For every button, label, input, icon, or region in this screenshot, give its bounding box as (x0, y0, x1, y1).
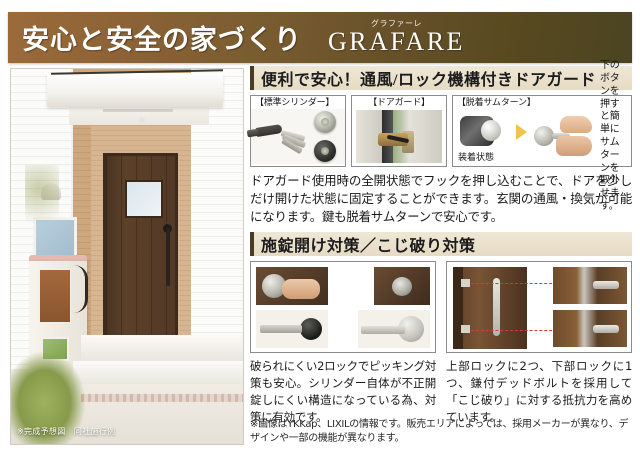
section-2-heading-text: 施錠開け対策／こじ破り対策 (261, 232, 476, 256)
thumbturn-description: 下のボタンを押すと簡単にサムターンを取外せます。 (596, 60, 627, 214)
photo-canopy (47, 73, 223, 107)
door-handle-icon (493, 278, 500, 336)
photo-gatepost-hook (73, 265, 88, 313)
panel-standard-cylinder-label: 【標準シリンダー】 (255, 99, 341, 108)
lower-lock-marker (461, 325, 470, 333)
hand-upper-icon (560, 116, 592, 133)
section-1-heading: 便利で安心！通風/ロック機構付きドアガード (250, 66, 632, 90)
photo-door-handle (166, 228, 170, 286)
key-photo-bottom-left (256, 310, 328, 348)
key-black-icon (255, 124, 282, 137)
thumbturn-removal-illustration (530, 114, 596, 160)
thumbturn-knob-icon (460, 116, 494, 146)
lock-photo-top-right (374, 267, 430, 305)
photo-vine-plant (25, 165, 59, 245)
photo-step-1 (81, 335, 243, 362)
callout-line-upper (471, 283, 557, 284)
hand-inserting-key-icon (282, 279, 320, 299)
photo-vent (103, 109, 173, 112)
photo-front-door (103, 153, 178, 343)
photo-caption: ※完成予想図 同社施行例 (17, 426, 115, 437)
cylinder-illustration (251, 109, 345, 164)
two-lock-illustration (250, 261, 436, 353)
thumbturn-illustration: 装着状態 下のボタンを押すと簡単にサムターンを取外せます。 (458, 110, 627, 164)
section-2-heading: 施錠開け対策／こじ破り対策 (250, 232, 632, 256)
section-1-body: ドアガード使用時の全開状態でフックを押し込むことで、ドアを少しだけ開けた状態に固… (250, 172, 632, 225)
door-guard-illustration (356, 110, 442, 163)
thumbturn-cylinder-icon (534, 126, 554, 146)
panel-door-guard-label: 【ドアガード】 (356, 99, 442, 108)
content-column: 便利で安心！通風/ロック機構付きドアガード 【標準シリンダー】 【ドアガード】 (250, 66, 632, 425)
deadbolt-upper-icon (593, 281, 619, 289)
deadbolt-illustration (446, 261, 632, 353)
column-picking-measures: 破られにくい2ロックでピッキング対策も安心。シリンダー自体が不正開錠しにくい構造… (250, 261, 436, 425)
brand-logo: グラファーレ GRAFARE (328, 20, 465, 55)
lock-keyhole-icon (392, 277, 412, 296)
key-blade-grey-icon (361, 326, 405, 334)
arrow-right-icon (516, 124, 527, 140)
brand-logo-text: GRAFARE (328, 29, 465, 55)
section-1-panels: 【標準シリンダー】 【ドアガード】 (250, 95, 632, 167)
column-prying-measures: 上部ロックに2つ、下部ロックに1つ、鎌付デッドボルトを採用して「こじ破り」に対す… (446, 261, 632, 425)
photo-door-window (125, 180, 163, 218)
panel-detachable-thumbturn: 【脱着サムターン】 装着状態 下のボタンを押すと簡単にサムターンを取外せます。 (452, 95, 632, 167)
key-blade-black-icon (260, 325, 302, 333)
deadbolt-lower-icon (593, 325, 619, 333)
entrance-photo: ※完成予想図 同社施行例 (10, 68, 244, 445)
section-2: 施錠開け対策／こじ破り対策 (250, 232, 632, 425)
section-1-heading-text: 便利で安心！通風/ロック機構付きドアガード (261, 66, 596, 90)
thumbturn-attached-caption: 装着状態 (458, 150, 494, 163)
upper-lock-marker (461, 279, 470, 287)
photo-gravel-border (81, 394, 243, 402)
key-head-black-icon (300, 318, 322, 340)
photo-ceiling-light (139, 117, 145, 123)
key-photo-bottom-right (358, 310, 430, 348)
column-prying-text: 上部ロックに2つ、下部ロックに1つ、鎌付デッドボルトを採用して「こじ破り」に対す… (446, 358, 632, 425)
hand-lower-icon (556, 136, 592, 156)
advertisement-page: 安心と安全の家づくり グラファーレ GRAFARE (0, 0, 640, 453)
header-banner: 安心と安全の家づくり グラファーレ GRAFARE (8, 12, 632, 63)
cylinder-black-icon (314, 140, 336, 162)
section-2-columns: 破られにくい2ロックでピッキング対策も安心。シリンダー自体が不正開錠しにくい構造… (250, 261, 632, 425)
page-title: 安心と安全の家づくり (22, 18, 302, 57)
callout-line-lower (471, 330, 557, 331)
cylinder-silver-icon (314, 111, 336, 133)
photo-mailbox (39, 269, 71, 323)
column-picking-text: 破られにくい2ロックでピッキング対策も安心。シリンダー自体が不正開錠しにくい構造… (250, 358, 436, 425)
panel-door-guard: 【ドアガード】 (351, 95, 447, 167)
thumbturn-attached-group: 装着状態 (458, 110, 516, 164)
panel-standard-cylinder: 【標準シリンダー】 (250, 95, 346, 167)
footnote: ※画像はYKKap、LIXILの情報です。販売エリアによっては、採用メーカーが異… (250, 418, 632, 446)
lock-photo-top-left (256, 267, 328, 305)
